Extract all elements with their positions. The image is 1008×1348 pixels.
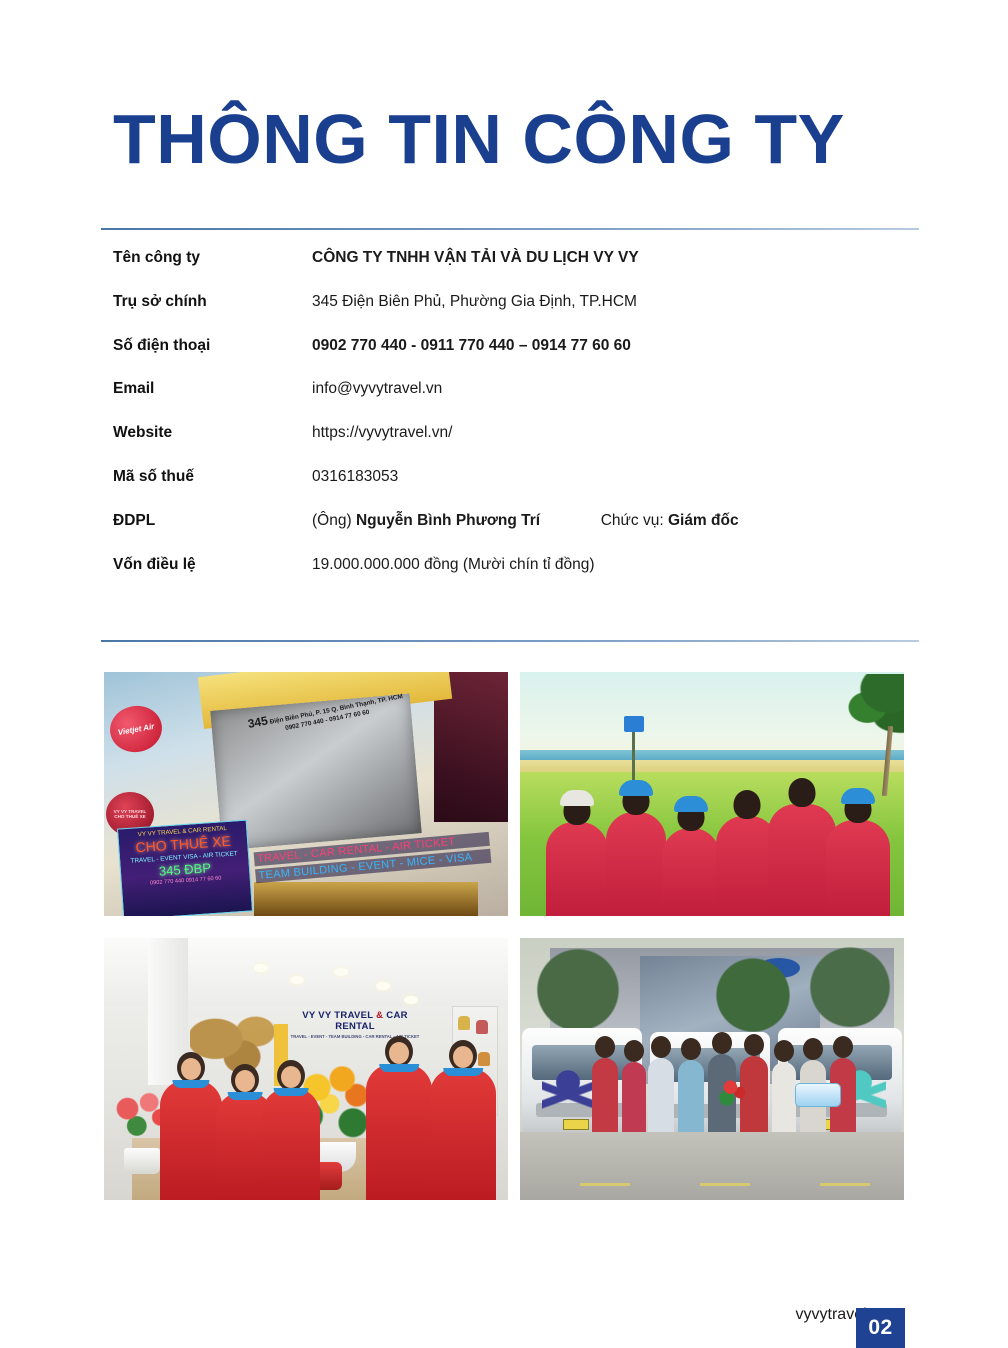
office-staff-person: [160, 1080, 222, 1200]
person-head: [774, 1040, 794, 1062]
guest-person: [622, 1062, 646, 1132]
uniform-collar: [172, 1080, 209, 1088]
person-head: [712, 1032, 732, 1054]
guest-person: [592, 1058, 618, 1132]
uniform-collar: [274, 1088, 309, 1096]
person-cap-icon: [841, 788, 875, 804]
page-title: THÔNG TIN CÔNG TY: [113, 104, 845, 174]
pole-box: [624, 716, 644, 732]
person-head: [744, 1034, 764, 1056]
person: [826, 820, 890, 916]
table-row: ĐDPL (Ông) Nguyễn Bình Phương Trí Chức v…: [113, 512, 913, 556]
photo-row: VY VY TRAVEL & CAR RENTAL TRAVEL - EVENT…: [104, 938, 904, 1200]
info-label: Email: [113, 380, 312, 398]
info-label: Trụ sở chính: [113, 293, 312, 311]
table-row: Mã số thuế 0316183053: [113, 468, 913, 512]
uniform-collar: [228, 1092, 263, 1100]
office-staff-person: [430, 1068, 496, 1200]
photo-van-handover-ceremony: [520, 938, 904, 1200]
ceremonial-key-icon: [796, 1084, 840, 1106]
bouquet-icon: [716, 1077, 752, 1111]
table-row: Vốn điều lệ 19.000.000.000 đồng (Mười ch…: [113, 556, 913, 600]
photo-grid: 345 Điện Biên Phủ, P. 15 Q. Bình Thạnh, …: [104, 672, 904, 1200]
divider-top: [101, 228, 919, 230]
rep-prefix: (Ông): [312, 512, 352, 529]
ceiling-light-icon: [334, 968, 348, 976]
info-value: (Ông) Nguyễn Bình Phương Trí Chức vụ: Gi…: [312, 512, 739, 530]
info-value: 345 Điện Biên Phủ, Phường Gia Định, TP.H…: [312, 293, 637, 311]
rep-name: Nguyễn Bình Phương Trí: [356, 512, 540, 529]
info-label: Vốn điều lệ: [113, 556, 312, 574]
office-staff-person: [366, 1064, 432, 1200]
info-label: ĐDPL: [113, 512, 312, 530]
info-label: Website: [113, 424, 312, 442]
person-cap-icon: [560, 790, 594, 806]
page-number-badge: 02: [856, 1308, 905, 1348]
office-staff-person: [262, 1088, 320, 1200]
person-head: [624, 1040, 644, 1062]
person-face: [453, 1046, 473, 1068]
uniform-collar: [443, 1068, 483, 1076]
table-row: Website https://vyvytravel.vn/: [113, 424, 913, 468]
photo-team-building-beach: [520, 672, 904, 916]
company-info-table: Tên công ty CÔNG TY TNHH VẬN TẢI VÀ DU L…: [113, 249, 913, 599]
shelf-item: [476, 1020, 488, 1034]
ribbon-bow-icon: [542, 1063, 594, 1127]
ceiling-light-icon: [254, 964, 268, 972]
photo-row: 345 Điện Biên Phủ, P. 15 Q. Bình Thạnh, …: [104, 672, 904, 916]
address-number: 345: [247, 713, 269, 731]
info-value: 0316183053: [312, 468, 398, 486]
table-row: Số điện thoại 0902 770 440 - 0911 770 44…: [113, 337, 913, 381]
info-value: CÔNG TY TNHH VẬN TẢI VÀ DU LỊCH VY VY: [312, 249, 639, 267]
person: [662, 828, 720, 916]
person-head: [651, 1036, 671, 1058]
table-row: Email info@vyvytravel.vn: [113, 380, 913, 424]
photo-storefront-signage: 345 Điện Biên Phủ, P. 15 Q. Bình Thạnh, …: [104, 672, 508, 916]
ceiling-light-icon: [290, 976, 304, 984]
info-label: Tên công ty: [113, 249, 312, 267]
person-face: [281, 1066, 301, 1088]
divider-bottom: [101, 640, 919, 642]
person: [606, 812, 666, 916]
person-head: [595, 1036, 615, 1058]
person-cap-icon: [619, 780, 653, 796]
table-row: Tên công ty CÔNG TY TNHH VẬN TẢI VÀ DU L…: [113, 249, 913, 293]
rep-role-value: Giám đốc: [668, 512, 739, 529]
person-head: [789, 778, 816, 807]
info-label: Số điện thoại: [113, 337, 312, 355]
person: [546, 822, 608, 916]
website-value[interactable]: https://vyvytravel.vn/: [312, 424, 452, 442]
email-value[interactable]: info@vyvytravel.vn: [312, 380, 442, 398]
photo-office-interior-staff: VY VY TRAVEL & CAR RENTAL TRAVEL - EVENT…: [104, 938, 508, 1200]
guest-person: [648, 1058, 674, 1132]
person-face: [389, 1042, 409, 1064]
person-head: [803, 1038, 823, 1060]
guest-person: [772, 1062, 796, 1132]
storefront-neon-board-small: VY VY TRAVEL & CAR RENTAL CHO THUÊ XE TR…: [117, 820, 253, 916]
wall-sign-main: VY VY TRAVEL & CAR RENTAL: [290, 1010, 420, 1032]
parking-line: [700, 1183, 750, 1186]
office-wall-sign: VY VY TRAVEL & CAR RENTAL TRAVEL - EVENT…: [290, 1010, 420, 1039]
info-value: 19.000.000.000 đồng (Mười chín tỉ đồng): [312, 556, 595, 574]
rep-role-label: Chức vụ:: [601, 512, 664, 529]
ceiling-light-icon: [376, 982, 390, 990]
uniform-collar: [379, 1064, 419, 1072]
person-head: [681, 1038, 701, 1060]
info-label: Mã số thuế: [113, 468, 312, 486]
person-head: [734, 790, 761, 819]
ceremony-ground: [520, 1132, 904, 1200]
shelf-item: [458, 1016, 470, 1030]
ampersand: &: [376, 1010, 383, 1021]
parking-line: [580, 1183, 630, 1186]
parking-line: [820, 1183, 870, 1186]
person-face: [235, 1070, 255, 1092]
person-face: [181, 1058, 201, 1080]
table-row: Trụ sở chính 345 Điện Biên Phủ, Phường G…: [113, 293, 913, 337]
info-value: 0902 770 440 - 0911 770 440 – 0914 77 60…: [312, 337, 631, 355]
flower-pot-left: [124, 1148, 160, 1174]
person-head: [833, 1036, 853, 1058]
person-cap-icon: [674, 796, 708, 812]
ceiling-light-icon: [404, 996, 418, 1004]
guest-person: [678, 1060, 704, 1132]
shelf-item: [478, 1052, 490, 1066]
